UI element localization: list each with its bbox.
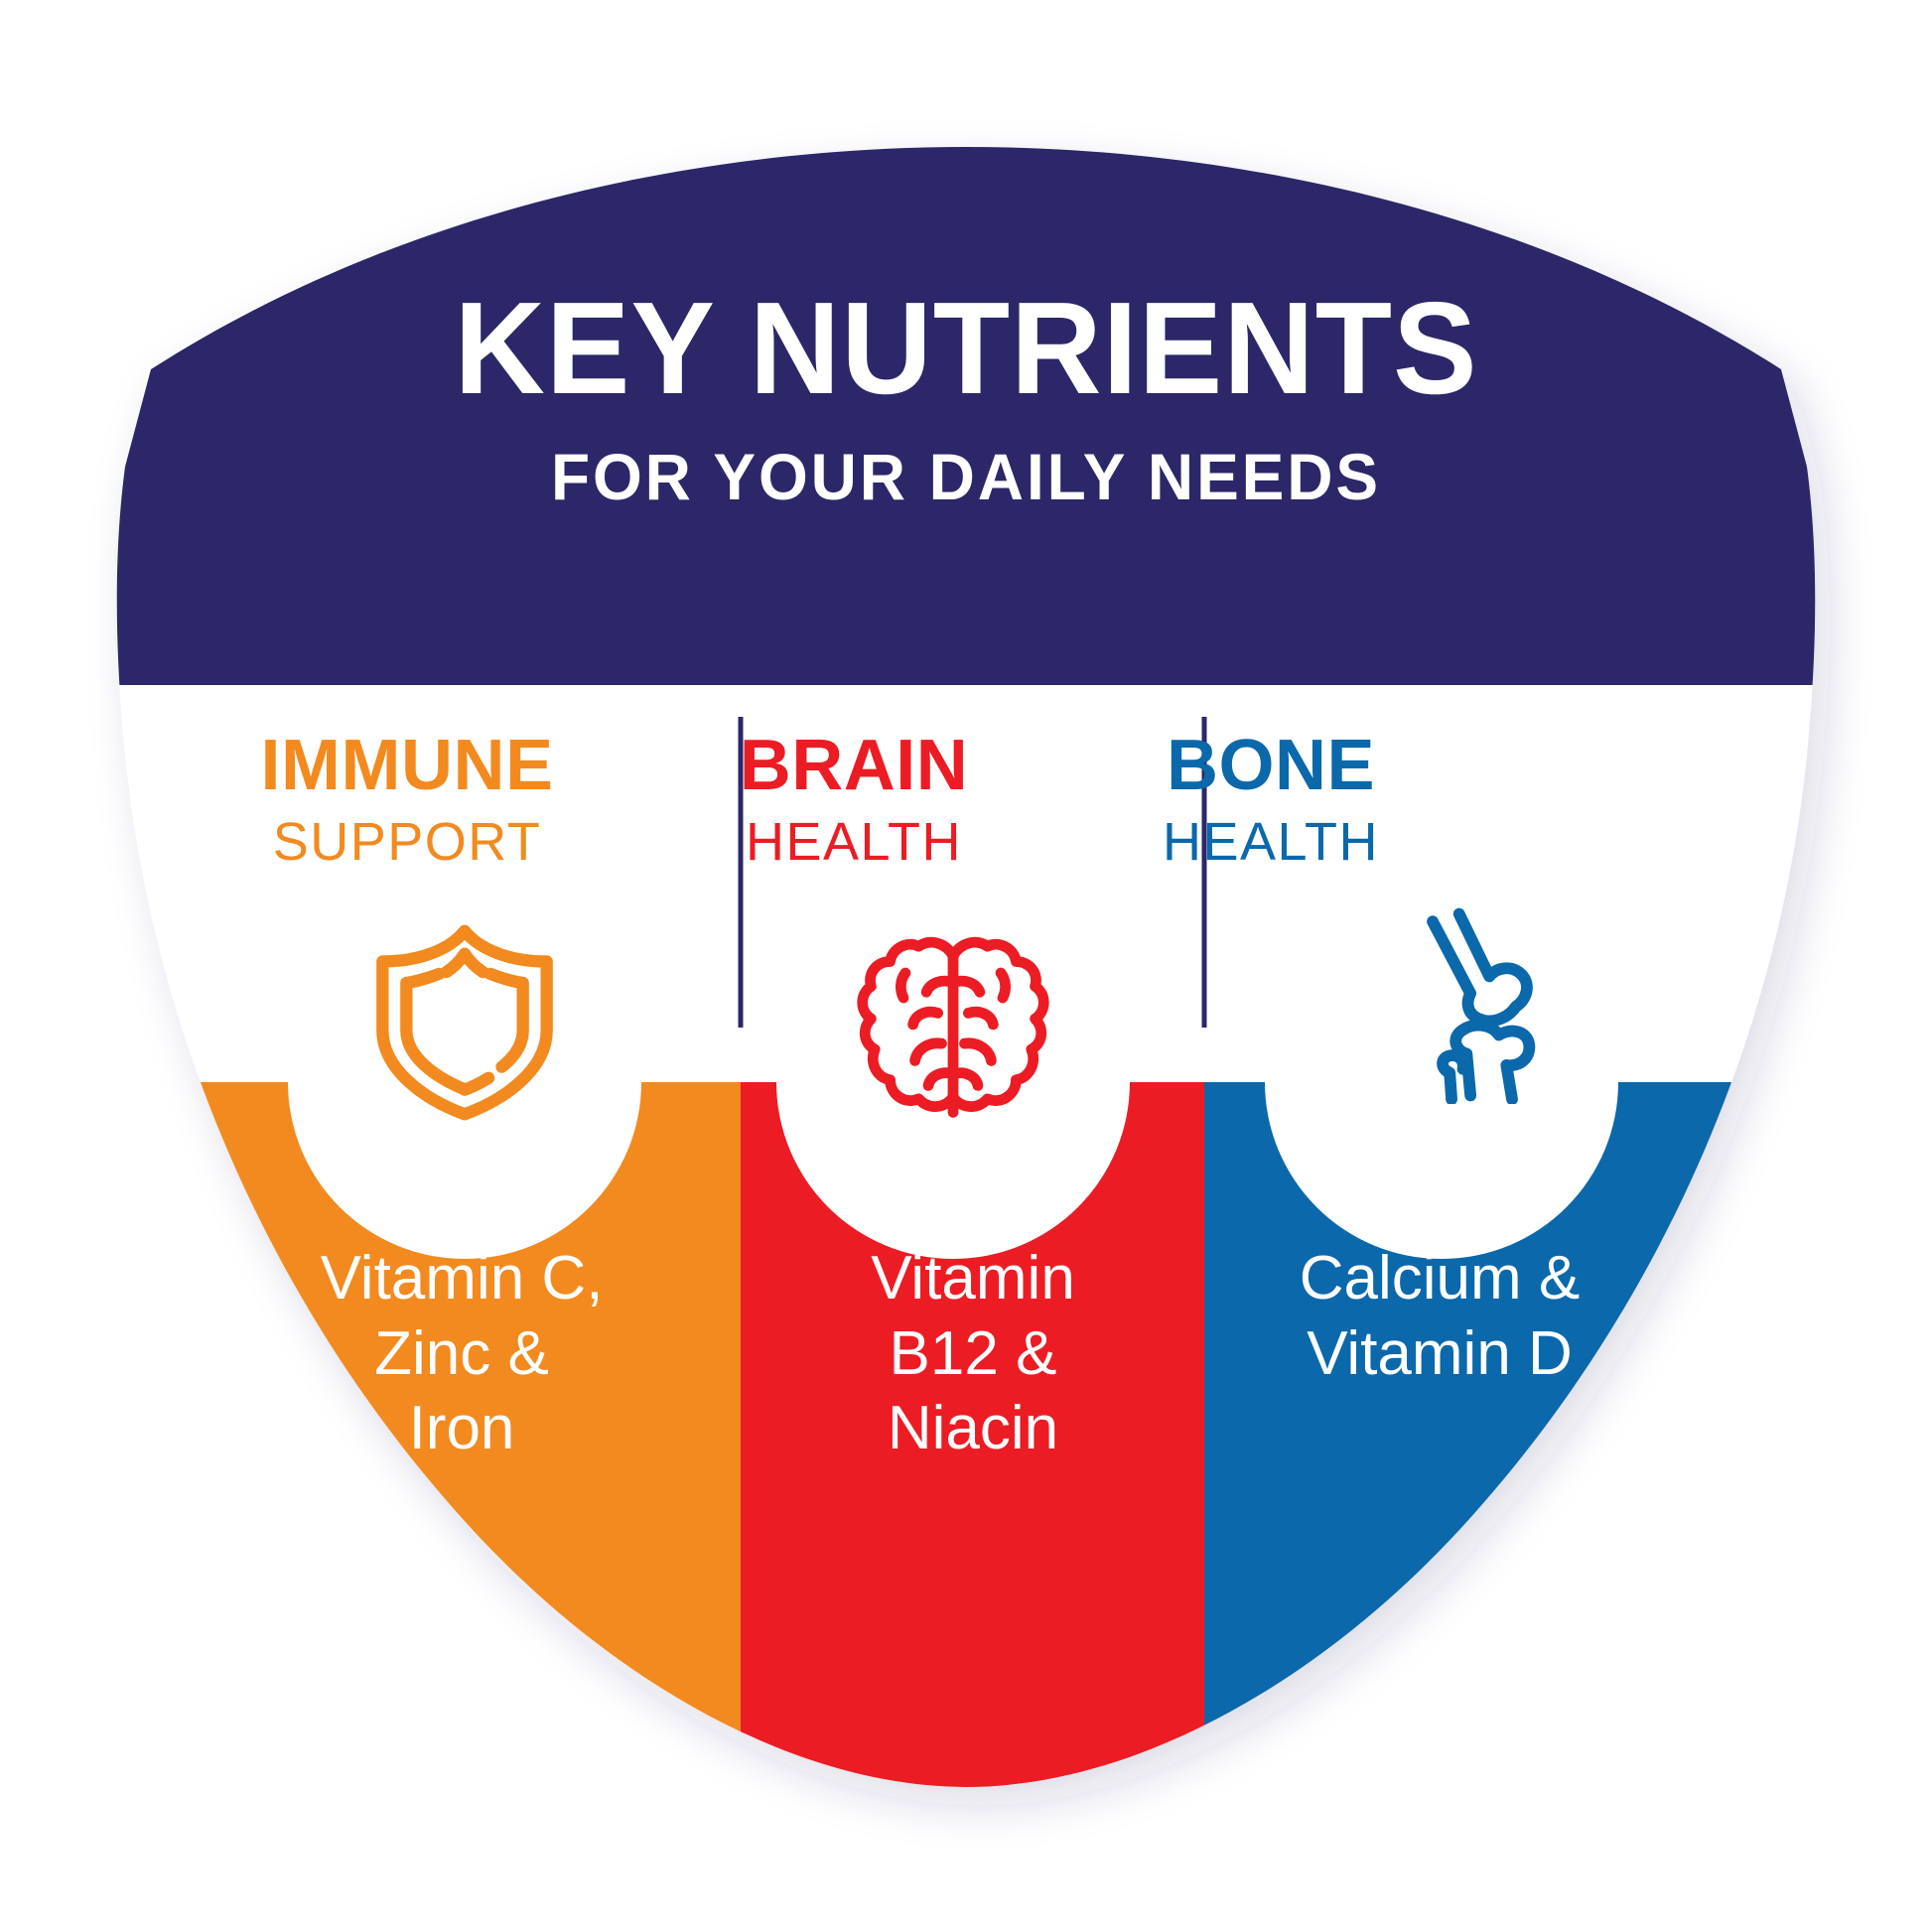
- infographic-shield-badge: KEY NUTRIENTS FOR YOUR DAILY NEEDS IMMUN…: [0, 0, 1932, 1932]
- bone-band: [1204, 1082, 1932, 1932]
- immune-band: [0, 1082, 741, 1932]
- colour-band: [0, 1082, 1932, 1932]
- brain-band: [741, 1082, 1204, 1932]
- shield-graphic: [0, 0, 1932, 1932]
- header-band: [0, 0, 1932, 685]
